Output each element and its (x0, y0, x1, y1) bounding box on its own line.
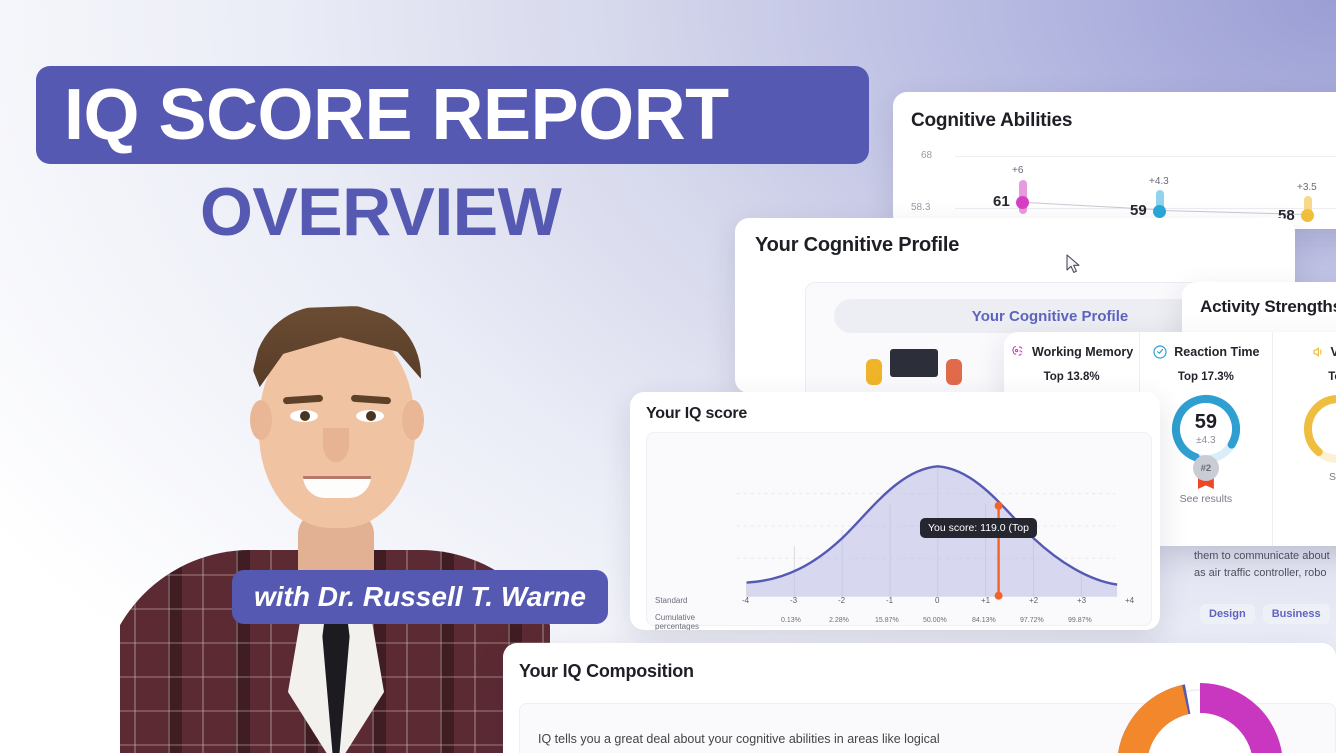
presenter-banner: with Dr. Russell T. Warne (232, 570, 608, 624)
x-tick-3: -1 (886, 596, 893, 605)
delta-3: +3.5 (1297, 182, 1317, 193)
x-tick-2: -2 (838, 596, 845, 605)
medal-reaction-time: #2 (1189, 455, 1223, 489)
gridline-top (955, 156, 1336, 157)
metric-ring-verbal (1300, 391, 1336, 467)
metric-header-verbal: Verbal (1309, 342, 1336, 362)
illustration-person-1 (866, 359, 882, 385)
metric-verbal: Verbal Top See (1273, 332, 1336, 546)
pct-2: 2.28% (829, 617, 849, 624)
nose (323, 428, 349, 462)
hero-subtitle: OVERVIEW (200, 178, 800, 246)
presenter-name: with Dr. Russell T. Warne (254, 581, 586, 613)
iq-score-tooltip: You score: 119.0 (Top (920, 518, 1037, 538)
presenter-photo (120, 250, 550, 753)
metric-name-reaction-time: Reaction Time (1174, 345, 1259, 359)
axis-label-cumulative: Cumulative percentages (655, 613, 711, 630)
tag-business[interactable]: Business (1263, 604, 1330, 624)
activity-blurb: them to communicate about as air traffic… (1194, 548, 1336, 581)
metric-top-verbal: Top (1328, 371, 1336, 383)
iq-composition-body: IQ tells you a great deal about your cog… (538, 732, 940, 746)
activity-tag-row: Design Business M (1200, 604, 1336, 624)
see-results-verbal[interactable]: See (1329, 471, 1336, 483)
pct-7: 99.87% (1068, 617, 1092, 624)
cognitive-profile-pill-label: Your Cognitive Profile (972, 308, 1128, 325)
value-1: 61 (993, 193, 1010, 210)
see-results-reaction-time[interactable]: See results (1180, 493, 1233, 505)
y-tick-low: 58.3 (911, 202, 930, 213)
cognitive-abilities-title: Cognitive Abilities (911, 110, 1072, 132)
stopwatch-icon (1152, 344, 1168, 360)
pct-3: 15.87% (875, 617, 899, 624)
metric-reaction-time: Reaction Time Top 17.3% 59 ±4.3 #2 See r… (1140, 332, 1272, 546)
mouse-cursor (1066, 254, 1082, 274)
x-tick-8: +4 (1125, 596, 1134, 605)
iq-composition-title: Your IQ Composition (519, 661, 694, 682)
x-tick-1: -3 (790, 596, 797, 605)
x-tick-5: +1 (981, 596, 990, 605)
pct-5: 84.13% (972, 617, 996, 624)
data-point-1[interactable] (1016, 196, 1029, 209)
activity-blurb-line-2: as air traffic controller, robo (1194, 565, 1336, 582)
metric-name-working-memory: Working Memory (1032, 345, 1133, 359)
delta-2: +4.3 (1149, 176, 1169, 187)
hero-title: IQ SCORE REPORT (64, 79, 729, 151)
bell-curve-svg (647, 433, 1151, 625)
pupil-left (300, 411, 310, 421)
pct-4: 50.00% (923, 617, 947, 624)
screenshot-stage: Cognitive Abilities 68 58.3 61 +6 59 +4.… (0, 0, 1336, 753)
data-point-3[interactable] (1301, 209, 1314, 222)
metric-margin-reaction-time: ±4.3 (1196, 435, 1215, 446)
x-tick-0: -4 (742, 596, 749, 605)
ear-left (250, 400, 272, 440)
activity-blurb-line-1: them to communicate about (1194, 548, 1336, 565)
metric-header-working-memory: Working Memory (1010, 342, 1133, 362)
iq-score-chart: You score: 119.0 (Top Standard Cumulativ… (646, 432, 1152, 626)
iq-score-donut: IQ Score (1100, 666, 1300, 753)
delta-1: +6 (1012, 165, 1023, 176)
pct-1: 0.13% (781, 617, 801, 624)
x-tick-4: 0 (935, 596, 939, 605)
iq-composition-card: Your IQ Composition IQ tells you a great… (503, 643, 1336, 753)
illustration-screen (890, 349, 938, 377)
illustration-person-2 (946, 359, 962, 385)
y-tick-high: 68 (921, 150, 932, 161)
ear-right (402, 400, 424, 440)
metric-top-reaction-time: Top 17.3% (1178, 371, 1234, 383)
x-tick-6: +2 (1029, 596, 1038, 605)
pct-6: 97.72% (1020, 617, 1044, 624)
speaker-icon (1309, 344, 1325, 360)
metric-top-working-memory: Top 13.8% (1044, 371, 1100, 383)
metric-score-reaction-time: 59 (1195, 412, 1217, 432)
iq-composition-panel: IQ tells you a great deal about your cog… (519, 703, 1336, 753)
tag-design[interactable]: Design (1200, 604, 1255, 624)
iq-score-card: Your IQ score You score: 119.0 (Top (630, 392, 1160, 630)
axis-label-standard: Standard (655, 596, 687, 605)
metric-name-verbal: Verbal (1331, 345, 1336, 359)
brain-icon (1010, 344, 1026, 360)
metric-value-verbal (1300, 391, 1336, 467)
x-tick-7: +3 (1077, 596, 1086, 605)
cognitive-abilities-card: Cognitive Abilities 68 58.3 61 +6 59 +4.… (893, 92, 1336, 229)
value-2: 59 (1130, 202, 1147, 219)
donut-center-label: IQ Score (1100, 666, 1300, 753)
iq-score-title: Your IQ score (646, 405, 747, 423)
data-point-2[interactable] (1153, 205, 1166, 218)
metric-header-reaction-time: Reaction Time (1152, 342, 1259, 362)
hero-title-banner: IQ SCORE REPORT (36, 66, 869, 164)
pupil-right (366, 411, 376, 421)
activity-strengths-title: Activity Strengths (1200, 297, 1336, 317)
medal-rank-reaction-time: #2 (1193, 455, 1219, 481)
